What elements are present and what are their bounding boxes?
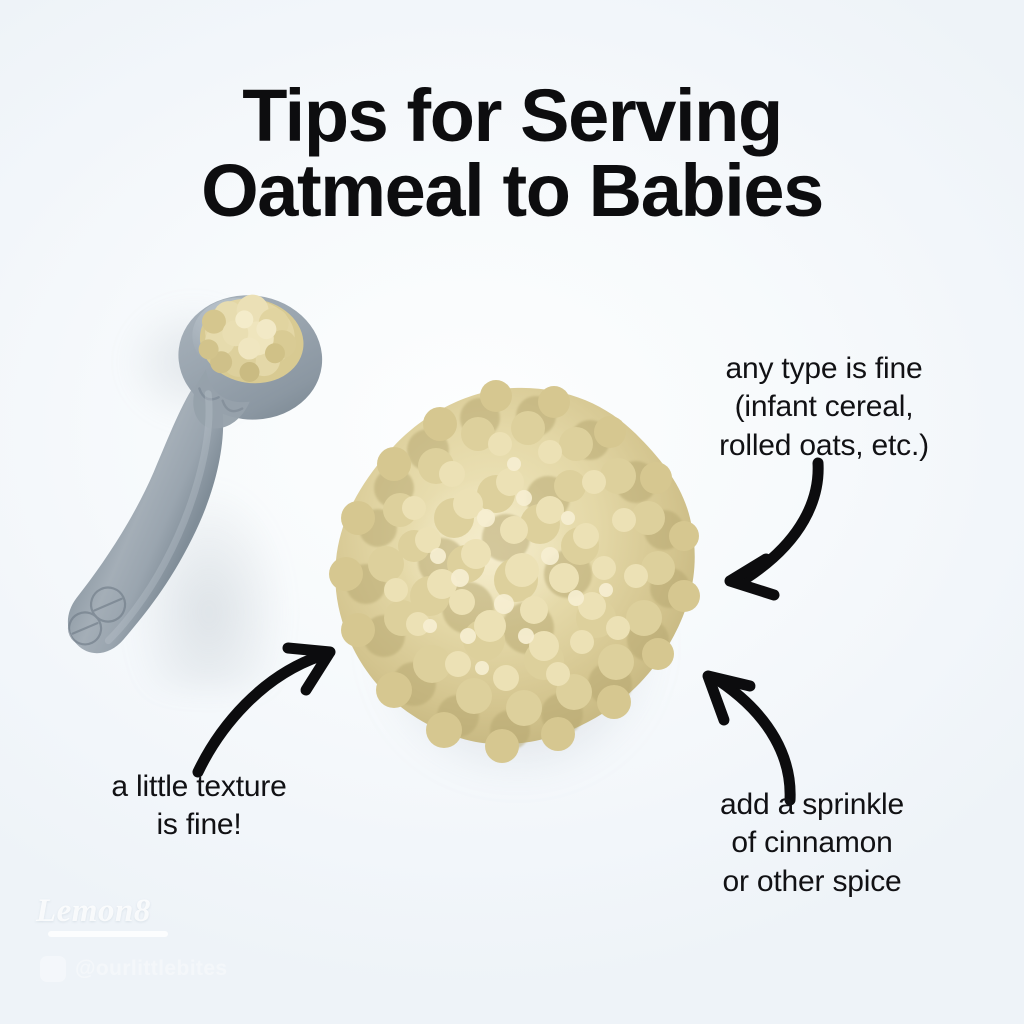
poster-canvas: Tips for Serving Oatmeal to Babies: [0, 0, 1024, 1024]
avatar: [40, 956, 66, 982]
annotation-bottom-right: add a sprinkle of cinnamon or other spic…: [656, 786, 968, 901]
lemon8-watermark: Lemon8: [36, 893, 151, 930]
annotation-left-line-2: is fine!: [58, 806, 340, 844]
title-line-1: Tips for Serving: [0, 78, 1024, 153]
annotation-bottom-right-line-2: of cinnamon: [656, 824, 968, 862]
annotation-top-right-line-3: rolled oats, etc.): [668, 427, 980, 465]
annotation-top-right-line-2: (infant cereal,: [668, 388, 980, 426]
annotation-left: a little texture is fine!: [58, 768, 340, 845]
annotation-left-line-1: a little texture: [58, 768, 340, 806]
annotation-bottom-right-line-1: add a sprinkle: [656, 786, 968, 824]
annotation-top-right-line-1: any type is fine: [668, 350, 980, 388]
arrow-to-oatmeal-left: [180, 630, 355, 780]
watermark-user: @ourlittlebites: [40, 956, 228, 982]
watermark-username: @ourlittlebites: [75, 957, 228, 981]
annotation-bottom-right-line-3: or other spice: [656, 863, 968, 901]
arrow-to-oatmeal-top-right: [690, 455, 880, 615]
page-title: Tips for Serving Oatmeal to Babies: [0, 78, 1024, 229]
title-line-2: Oatmeal to Babies: [0, 153, 1024, 228]
oatmeal-mound: [318, 378, 710, 778]
annotation-top-right: any type is fine (infant cereal, rolled …: [668, 350, 980, 465]
lemon8-watermark-underline: [48, 931, 168, 937]
arrow-bottom-right-stroke: [718, 680, 790, 800]
arrow-left-stroke: [198, 656, 320, 772]
oatmeal-graphic: [318, 378, 710, 778]
